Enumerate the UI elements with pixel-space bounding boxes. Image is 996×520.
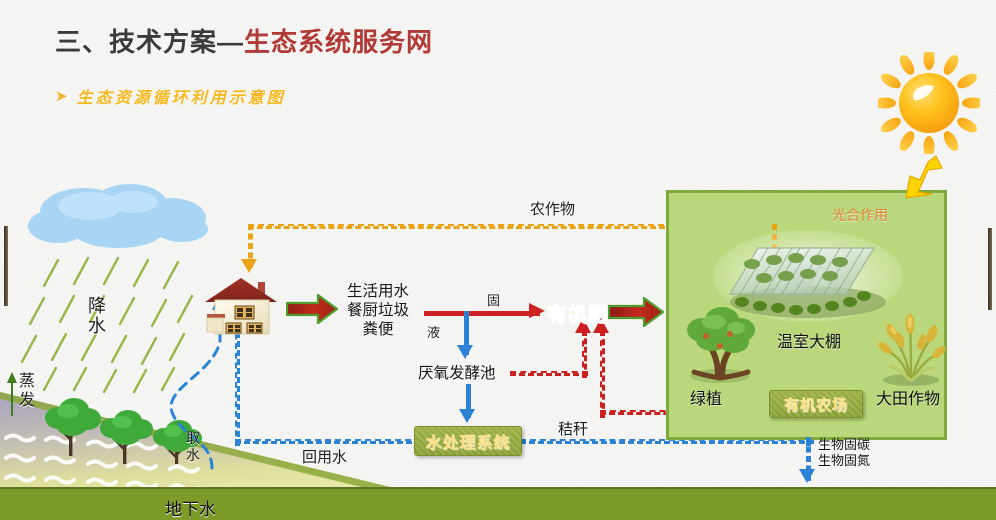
right-edge-marker [988,228,992,310]
slide-canvas: 三、技术方案—生态系统服务网 ➤ 生态资源循环利用示意图 [0,0,996,520]
sun-icon [878,52,980,154]
organic-fertilizer-label: 有机肥 [548,300,608,327]
house-icon [205,276,283,338]
label-straw: 秸秆 [558,418,588,439]
bottom-green-band [0,487,996,520]
reclaimed-water-line-left [235,439,421,444]
bio-fixation-arrow-icon [798,468,816,484]
label-liquid: 液 [427,322,440,341]
household-output-list: 生活用水 餐厨垃圾 粪便 [330,282,426,339]
page-title: 三、技术方案—生态系统服务网 [55,22,433,59]
household-output-item: 生活用水 [330,282,426,301]
left-edge-marker [4,226,8,306]
organic-farm-label: 有机农场 [784,394,848,415]
water-treatment-system-box[interactable]: 水处理系统 [414,426,522,456]
organic-farm-box[interactable]: 有机农场 [769,390,863,418]
field-crops-icon [872,310,950,388]
label-water-intake: 取水 [184,430,202,464]
anaerobic-to-water-arrow-icon [458,408,476,424]
crops-return-line [248,224,674,229]
label-anaerobic-tank: 厌氧发酵池 [418,361,496,383]
water-treatment-system-label: 水处理系统 [425,429,510,453]
subtitle-row: ➤ 生态资源循环利用示意图 [55,84,286,108]
crops-return-arrow-icon [240,258,258,274]
page-title-prefix: 三、技术方案— [55,27,244,57]
label-bio-nitrogen: 生物固氮 [818,453,870,469]
sunlight-beam-arrow-icon [898,154,944,200]
subtitle-text: 生态资源循环利用示意图 [77,84,286,108]
cloud-icon [22,182,218,252]
straw-riser [600,330,605,418]
liquid-branch-arrow-icon [456,344,474,360]
household-output-item: 粪便 [330,320,426,339]
label-bio-fixation: 生物固碳 生物固氮 [818,437,870,469]
green-plant-icon [678,300,762,384]
label-groundwater: 地下水 [165,495,216,520]
household-output-item: 餐厨垃圾 [330,301,426,320]
flow-arrow-fert-to-farm-icon [608,297,664,327]
anaerobic-to-fert-line [510,371,588,376]
anaerobic-to-fert-riser [582,330,587,378]
label-precipitation: 降水 [86,296,108,336]
label-bio-carbon: 生物固碳 [818,437,870,453]
label-field-crops: 大田作物 [876,385,940,409]
label-evaporation: 蒸发 [17,372,37,410]
solid-branch-line [424,311,540,316]
page-title-highlight: 生态系统服务网 [244,27,433,57]
label-photosynthesis: 光合作用 [832,205,888,225]
solid-branch-arrow-icon [528,303,546,319]
label-reclaimed-water: 回用水 [302,446,347,467]
label-solid: 固 [487,290,500,309]
label-crops: 农作物 [530,198,575,219]
label-green-plants: 绿植 [690,385,722,409]
bullet-arrow-icon: ➤ [55,89,68,104]
label-greenhouse: 温室大棚 [777,328,841,352]
